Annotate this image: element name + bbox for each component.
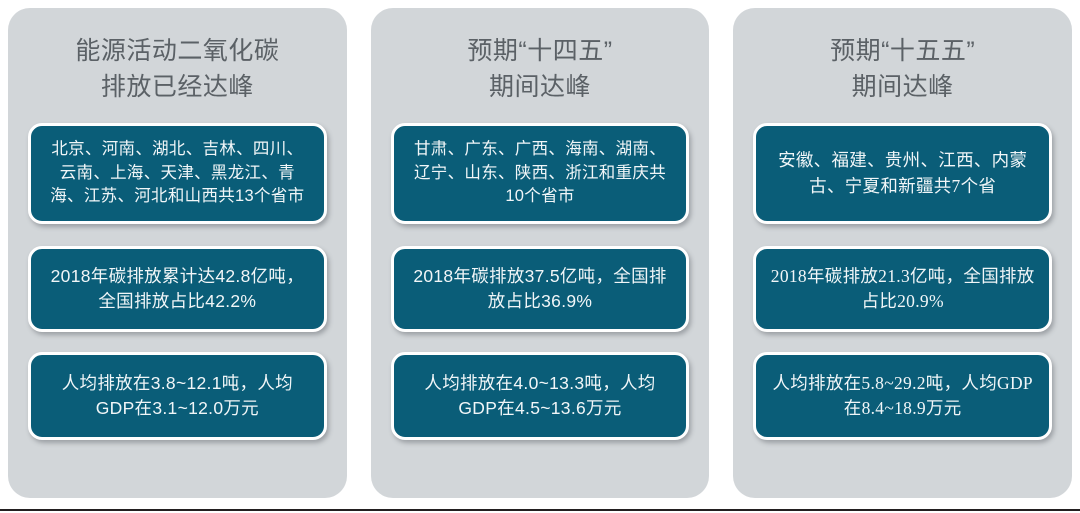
card-list-peak-14th-five-year-plan: 甘肃、广东、广西、海南、湖南、辽宁、山东、陕西、浙江和重庆共10个省市 2018… bbox=[391, 123, 690, 476]
card-list-peak-15th-five-year-plan: 安徽、福建、贵州、江西、内蒙古、宁夏和新疆共7个省 2018年碳排放21.3亿吨… bbox=[753, 123, 1052, 476]
card-text: 人均排放在3.8~12.1吨，人均GDP在3.1~12.0万元 bbox=[43, 371, 312, 422]
card-emissions-peak-14th: 2018年碳排放37.5亿吨，全国排放占比36.9% bbox=[391, 246, 690, 332]
card-text: 人均排放在5.8~29.2吨，人均GDP在8.4~18.9万元 bbox=[768, 371, 1037, 422]
panel-peak-15th-five-year-plan: 预期“十五五” 期间达峰 安徽、福建、贵州、江西、内蒙古、宁夏和新疆共7个省 2… bbox=[733, 8, 1072, 498]
card-per-capita-peak-15th: 人均排放在5.8~29.2吨，人均GDP在8.4~18.9万元 bbox=[753, 352, 1052, 440]
panel-already-peaked: 能源活动二氧化碳 排放已经达峰 北京、河南、湖北、吉林、四川、云南、上海、天津、… bbox=[8, 8, 347, 498]
card-provinces-already-peaked: 北京、河南、湖北、吉林、四川、云南、上海、天津、黑龙江、青海、江苏、河北和山西共… bbox=[28, 123, 327, 224]
panel-title-already-peaked: 能源活动二氧化碳 排放已经达峰 bbox=[75, 34, 279, 105]
panel-title-peak-14th-five-year-plan: 预期“十四五” 期间达峰 bbox=[467, 34, 612, 105]
card-text: 甘肃、广东、广西、海南、湖南、辽宁、山东、陕西、浙江和重庆共10个省市 bbox=[406, 138, 675, 210]
card-emissions-peak-15th: 2018年碳排放21.3亿吨，全国排放占比20.9% bbox=[753, 246, 1052, 332]
card-per-capita-peak-14th: 人均排放在4.0~13.3吨，人均GDP在4.5~13.6万元 bbox=[391, 352, 690, 440]
panel-peak-14th-five-year-plan: 预期“十四五” 期间达峰 甘肃、广东、广西、海南、湖南、辽宁、山东、陕西、浙江和… bbox=[371, 8, 710, 498]
bottom-divider bbox=[0, 509, 1080, 511]
card-text: 人均排放在4.0~13.3吨，人均GDP在4.5~13.6万元 bbox=[406, 371, 675, 422]
card-text: 2018年碳排放累计达42.8亿吨，全国排放占比42.2% bbox=[43, 264, 312, 315]
card-text: 2018年碳排放21.3亿吨，全国排放占比20.9% bbox=[768, 264, 1037, 315]
infographic-root: 能源活动二氧化碳 排放已经达峰 北京、河南、湖北、吉林、四川、云南、上海、天津、… bbox=[0, 0, 1080, 513]
card-per-capita-already-peaked: 人均排放在3.8~12.1吨，人均GDP在3.1~12.0万元 bbox=[28, 352, 327, 440]
panel-title-peak-15th-five-year-plan: 预期“十五五” 期间达峰 bbox=[830, 34, 975, 105]
card-provinces-peak-15th: 安徽、福建、贵州、江西、内蒙古、宁夏和新疆共7个省 bbox=[753, 123, 1052, 224]
card-text: 北京、河南、湖北、吉林、四川、云南、上海、天津、黑龙江、青海、江苏、河北和山西共… bbox=[43, 138, 312, 210]
card-text: 安徽、福建、贵州、江西、内蒙古、宁夏和新疆共7个省 bbox=[768, 148, 1037, 199]
card-list-already-peaked: 北京、河南、湖北、吉林、四川、云南、上海、天津、黑龙江、青海、江苏、河北和山西共… bbox=[28, 123, 327, 476]
card-provinces-peak-14th: 甘肃、广东、广西、海南、湖南、辽宁、山东、陕西、浙江和重庆共10个省市 bbox=[391, 123, 690, 224]
column-group: 能源活动二氧化碳 排放已经达峰 北京、河南、湖北、吉林、四川、云南、上海、天津、… bbox=[8, 8, 1072, 498]
card-emissions-already-peaked: 2018年碳排放累计达42.8亿吨，全国排放占比42.2% bbox=[28, 246, 327, 332]
card-text: 2018年碳排放37.5亿吨，全国排放占比36.9% bbox=[406, 264, 675, 315]
